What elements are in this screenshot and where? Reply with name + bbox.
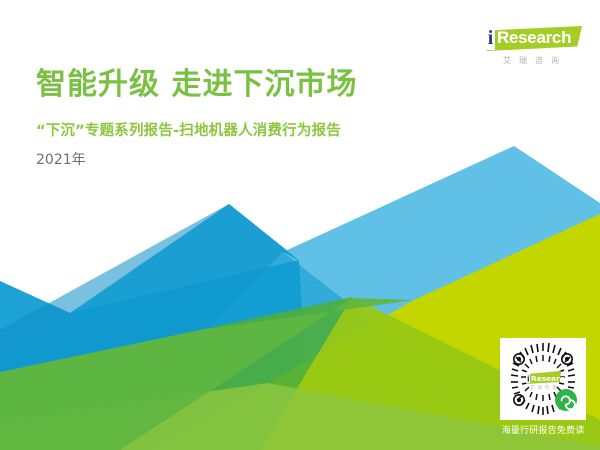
title-block: 智能升级 走进下沉市场 “下沉”专题系列报告-扫地机器人消费行为报告 2021年 (36, 66, 466, 170)
report-cover-page: i Research 艾瑞咨询 智能升级 走进下沉市场 “下沉”专题系列报告-扫… (0, 0, 600, 450)
iresearch-logo: i Research 艾瑞咨询 (477, 24, 582, 72)
svg-text:i: i (527, 375, 530, 384)
publication-year: 2021年 (36, 150, 466, 170)
wechat-miniprogram-badge (555, 389, 577, 411)
logo-initial-i: i (486, 28, 495, 50)
qr-code-block[interactable]: i Research 艾瑞咨询 海量行研报告免费读 (500, 338, 586, 436)
page-subtitle: “下沉”专题系列报告-扫地机器人消费行为报告 (36, 121, 466, 141)
qr-code-image[interactable]: i Research 艾瑞咨询 (500, 338, 586, 420)
logo-mark: i Research (477, 24, 582, 54)
logo-chinese-name: 艾瑞咨询 (491, 55, 579, 66)
qr-code-card[interactable]: i Research 艾瑞咨询 (500, 338, 586, 420)
qr-code-caption: 海量行研报告免费读 (500, 423, 586, 436)
page-title: 智能升级 走进下沉市场 (36, 66, 466, 104)
svg-text:艾瑞咨询: 艾瑞咨询 (530, 384, 560, 391)
svg-text:Research: Research (531, 374, 569, 383)
logo-wordmark: Research (497, 28, 571, 48)
